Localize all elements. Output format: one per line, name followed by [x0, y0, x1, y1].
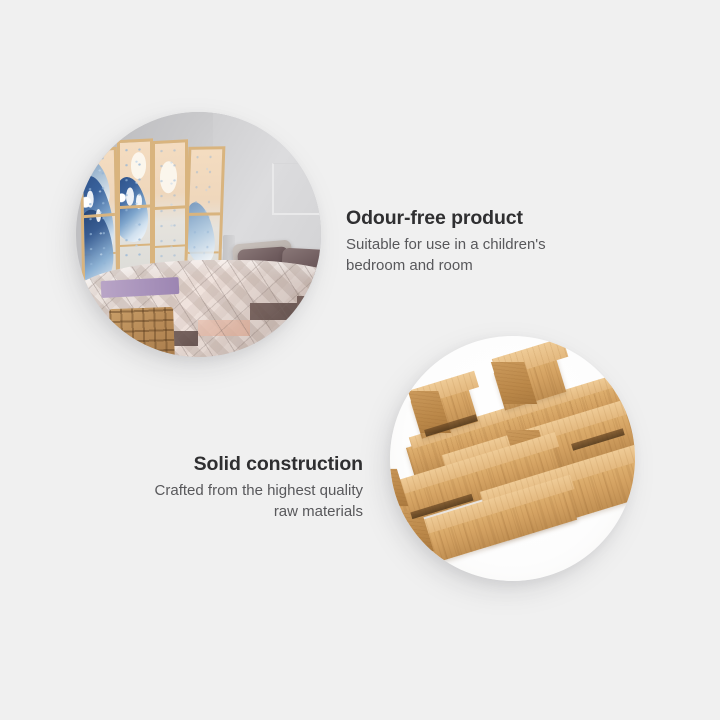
- feature-text-odour-free: Odour-free product Suitable for use in a…: [346, 206, 602, 277]
- infographic-canvas: Odour-free product Suitable for use in a…: [0, 0, 720, 720]
- folded-textile: [100, 277, 179, 298]
- wicker-hamper: [109, 307, 175, 357]
- feature-text-solid-construction: Solid construction Crafted from the high…: [105, 452, 363, 523]
- stacked-timber-beams-photo: [390, 336, 635, 581]
- feature-title-odour-free: Odour-free product: [346, 206, 602, 230]
- feature-description-odour-free-line-2: bedroom and room: [346, 256, 602, 277]
- timber-scene: [390, 336, 635, 581]
- bedroom-with-folding-screen-photo: [76, 112, 321, 357]
- feature-description-odour-free-line-1: Suitable for use in a children's: [346, 235, 602, 256]
- feature-title-solid-construction: Solid construction: [105, 452, 363, 476]
- feature-description-solid-construction-line-1: Crafted from the highest quality: [105, 481, 363, 502]
- feature-description-solid-construction-line-2: raw materials: [105, 502, 363, 523]
- bedroom-scene: [76, 112, 321, 357]
- wall-moulding-corner: [272, 163, 321, 215]
- wicker-weave: [109, 307, 175, 357]
